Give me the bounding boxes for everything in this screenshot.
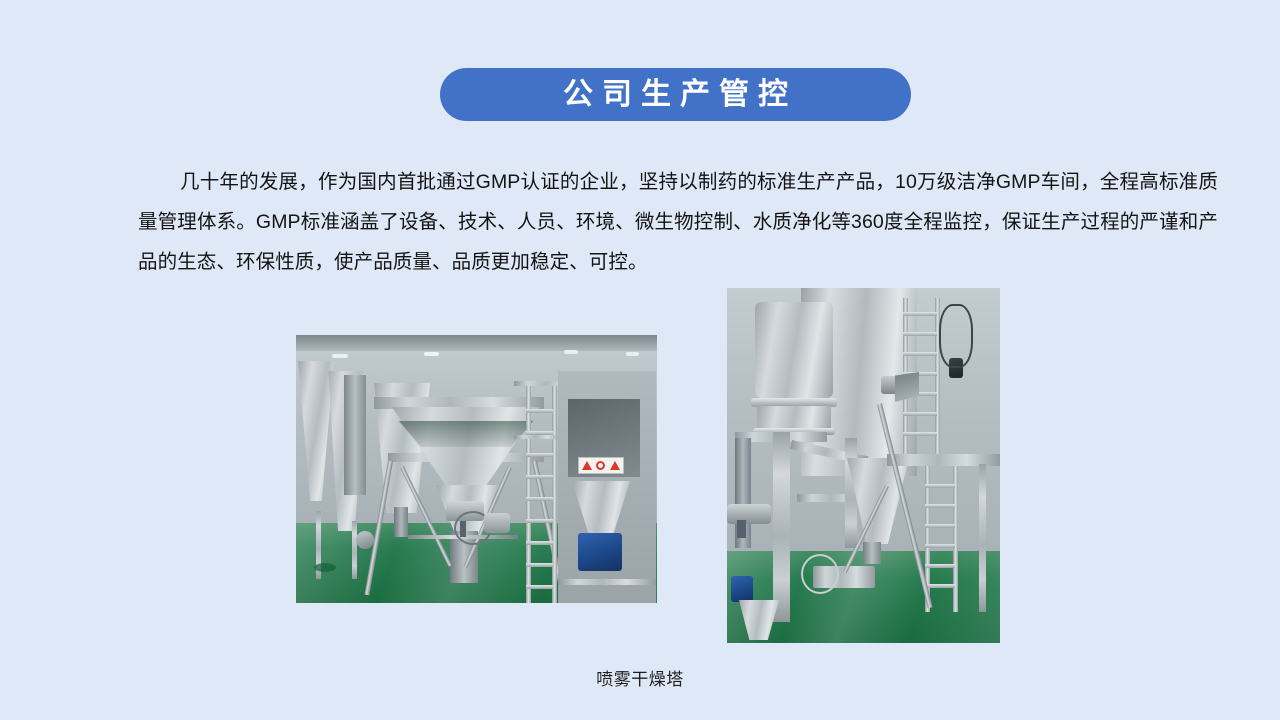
pump-motor-left — [731, 576, 753, 602]
pipe-flange-right — [484, 513, 510, 533]
page-title-pill: 公司生产管控 — [440, 68, 911, 121]
ceiling-light-3 — [564, 350, 578, 354]
hopper-outlet — [863, 542, 881, 564]
ladder-rung — [903, 352, 937, 356]
ladder-rung — [925, 504, 955, 508]
slide-canvas: 公司生产管控 几十年的发展，作为国内首批通过GMP认证的企业，坚持以制药的标准生… — [0, 0, 1280, 720]
floor-drain — [314, 563, 336, 572]
prohibition-circle-icon — [596, 461, 605, 470]
ladder-rung — [526, 497, 553, 501]
pipe-elbow-foreground — [356, 531, 374, 549]
ceiling-beam — [296, 335, 657, 351]
tower-top-cylinder — [755, 302, 833, 398]
ladder-rung — [526, 453, 553, 457]
flexible-hose-right — [801, 554, 839, 594]
vessel-support-leg-back-2 — [352, 521, 357, 579]
ladder-rail-right — [552, 383, 557, 603]
sensor-probe — [460, 521, 466, 537]
body-paragraph: 几十年的发展，作为国内首批通过GMP认证的企业，坚持以制药的标准生产产品，10万… — [138, 162, 1218, 282]
ceiling-light-2 — [424, 352, 439, 356]
ladder-rung — [526, 475, 553, 479]
page-title: 公司生产管控 — [554, 80, 797, 110]
photo-spray-drying-tower-close — [727, 288, 1000, 643]
vessel-mid-left-outlet — [394, 507, 408, 537]
ladder-rung — [903, 312, 937, 316]
warning-triangle-icon — [582, 461, 592, 470]
ceiling-light-4 — [626, 352, 639, 356]
ladder-rung — [903, 412, 937, 416]
ladder-rung — [925, 544, 955, 548]
enclosure-base-rail — [558, 579, 656, 585]
warning-triangle-icon — [610, 461, 620, 470]
pipe-flange-left — [727, 504, 771, 524]
ladder-rung — [925, 524, 955, 528]
ladder-rung — [903, 432, 937, 436]
ladder-rung — [526, 563, 553, 567]
instrument-cable — [939, 304, 973, 368]
duct-back-left — [344, 375, 366, 495]
ladder-rung — [526, 409, 553, 413]
valve-handle-left — [737, 520, 746, 538]
ladder-rail-left — [526, 383, 531, 603]
safety-warning-sign — [578, 457, 624, 474]
ladder-rung — [925, 484, 955, 488]
platform-deck-edge — [514, 435, 562, 439]
photo-spray-drying-tower-wide: 图片仅供参考 以实物为准 — [296, 335, 657, 603]
support-column-main — [773, 432, 790, 622]
platform-post — [979, 464, 986, 612]
ladder-rung — [925, 584, 955, 588]
ladder-rung — [526, 541, 553, 545]
ladder-rung — [925, 564, 955, 568]
ceiling-light-1 — [332, 354, 348, 358]
photo-scene-wide — [296, 335, 657, 603]
ladder-rung — [526, 585, 553, 589]
photo-scene-close — [727, 288, 1000, 643]
image-caption: 喷雾干燥塔 — [0, 665, 1280, 690]
ladder-rung — [903, 332, 937, 336]
blower-motor — [578, 533, 622, 571]
ladder-rung — [526, 519, 553, 523]
